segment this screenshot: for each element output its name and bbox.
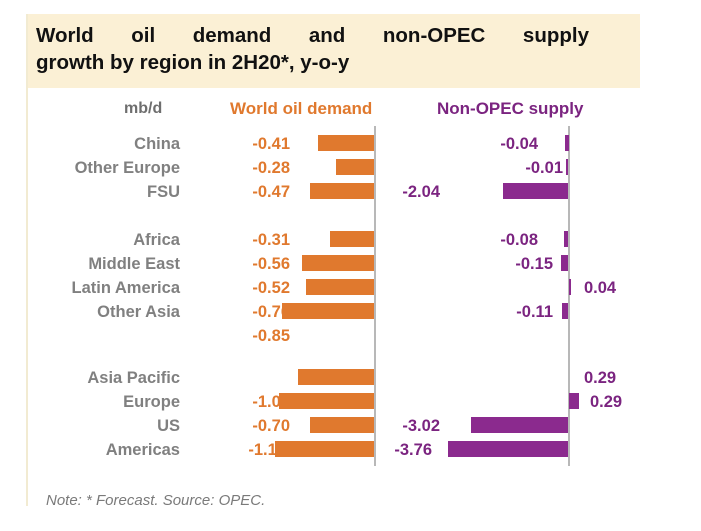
table-row: Asia Pacific 0.29 xyxy=(0,366,701,390)
demand-bar-middle-east xyxy=(302,255,374,271)
table-row: China -0.41 -0.04 xyxy=(0,132,701,156)
supply-value-europe: 0.29 xyxy=(590,390,622,414)
supply-value-americas: -3.76 xyxy=(360,438,432,462)
table-row: Middle East -0.56 -0.15 xyxy=(0,252,701,276)
title-word-0: World xyxy=(36,22,94,49)
supply-bar-latin-america xyxy=(569,279,571,295)
legend-world-oil-demand: World oil demand xyxy=(230,99,372,119)
chart-title-band: World oil demand and non-OPEC supply gro… xyxy=(28,14,640,88)
supply-bar-other-asia xyxy=(562,303,568,319)
table-row: Other Europe -0.28 -0.01 xyxy=(0,156,701,180)
demand-bar-fsu xyxy=(310,183,374,199)
demand-bar-other-europe xyxy=(336,159,374,175)
table-row: Europe -1.03 0.29 xyxy=(0,390,701,414)
chart-page: World oil demand and non-OPEC supply gro… xyxy=(0,0,701,531)
row-label-china: China xyxy=(20,132,180,156)
supply-value-fsu: -2.04 xyxy=(368,180,440,204)
title-word-2: demand xyxy=(193,22,272,49)
demand-value-latin-america: -0.52 xyxy=(200,276,290,300)
demand-bar-africa xyxy=(330,231,374,247)
supply-bar-europe xyxy=(569,393,579,409)
legend-non-opec-supply: Non-OPEC supply xyxy=(437,99,583,119)
row-label-asia-pacific: Asia Pacific xyxy=(20,366,180,390)
table-row: -0.85 xyxy=(0,324,701,348)
row-label-latin-america: Latin America xyxy=(20,276,180,300)
row-label-fsu: FSU xyxy=(20,180,180,204)
supply-bar-africa xyxy=(564,231,568,247)
demand-bar-latin-america xyxy=(306,279,374,295)
demand-value-china: -0.41 xyxy=(200,132,290,156)
supply-bar-americas xyxy=(448,441,568,457)
title-word-4: non-OPEC xyxy=(383,22,486,49)
table-row: Americas -1.19 -3.76 xyxy=(0,438,701,462)
demand-value-asia-pacific: -0.85 xyxy=(200,324,290,348)
table-row: Latin America -0.52 0.04 xyxy=(0,276,701,300)
row-label-other-asia: Other Asia xyxy=(20,300,180,324)
supply-bar-us xyxy=(471,417,568,433)
chart-note: Note: * Forecast. Source: OPEC. xyxy=(46,492,265,509)
demand-bar-asia-pacific xyxy=(298,369,374,385)
title-word-3: and xyxy=(309,22,345,49)
supply-bar-fsu xyxy=(503,183,568,199)
plot-area: China -0.41 -0.04 Other Europe -0.28 -0.… xyxy=(0,126,701,476)
supply-bar-china xyxy=(565,135,569,151)
supply-bar-other-europe xyxy=(566,159,568,175)
units-label: mb/d xyxy=(124,100,162,118)
supply-value-other-asia: -0.11 xyxy=(468,300,553,324)
supply-value-asia-pacific: 0.29 xyxy=(584,366,616,390)
table-row: Africa -0.31 -0.08 xyxy=(0,228,701,252)
demand-value-africa: -0.31 xyxy=(200,228,290,252)
demand-value-americas: -1.19 xyxy=(196,438,286,462)
demand-bar-other-asia xyxy=(282,303,374,319)
table-row: US -0.70 -3.02 xyxy=(0,414,701,438)
demand-value-middle-east: -0.56 xyxy=(200,252,290,276)
supply-value-other-europe: -0.01 xyxy=(468,156,563,180)
row-label-other-europe: Other Europe xyxy=(20,156,180,180)
supply-bar-middle-east xyxy=(561,255,568,271)
row-label-africa: Africa xyxy=(20,228,180,252)
demand-value-other-europe: -0.28 xyxy=(200,156,290,180)
demand-bar-china xyxy=(318,135,374,151)
row-label-europe: Europe xyxy=(20,390,180,414)
demand-value-us: -0.70 xyxy=(200,414,290,438)
demand-value-other-asia: -0.76 xyxy=(200,300,290,324)
table-row: FSU -0.47 -2.04 xyxy=(0,180,701,204)
supply-value-africa: -0.08 xyxy=(468,228,538,252)
table-row: Other Asia -0.76 -0.11 xyxy=(0,300,701,324)
page-title-line1: World oil demand and non-OPEC supply xyxy=(36,22,626,49)
supply-value-middle-east: -0.15 xyxy=(468,252,553,276)
row-label-middle-east: Middle East xyxy=(20,252,180,276)
row-label-americas: Americas xyxy=(20,438,180,462)
supply-value-china: -0.04 xyxy=(468,132,538,156)
demand-bar-us xyxy=(310,417,374,433)
page-title-line2: growth by region in 2H20*, y-o-y xyxy=(36,49,626,76)
row-label-us: US xyxy=(20,414,180,438)
demand-value-europe: -1.03 xyxy=(200,390,290,414)
supply-value-us: -3.02 xyxy=(368,414,440,438)
title-word-1: oil xyxy=(131,22,155,49)
demand-bar-europe xyxy=(279,393,374,409)
demand-value-fsu: -0.47 xyxy=(200,180,290,204)
supply-value-latin-america: 0.04 xyxy=(584,276,616,300)
title-word-5: supply xyxy=(523,22,589,49)
